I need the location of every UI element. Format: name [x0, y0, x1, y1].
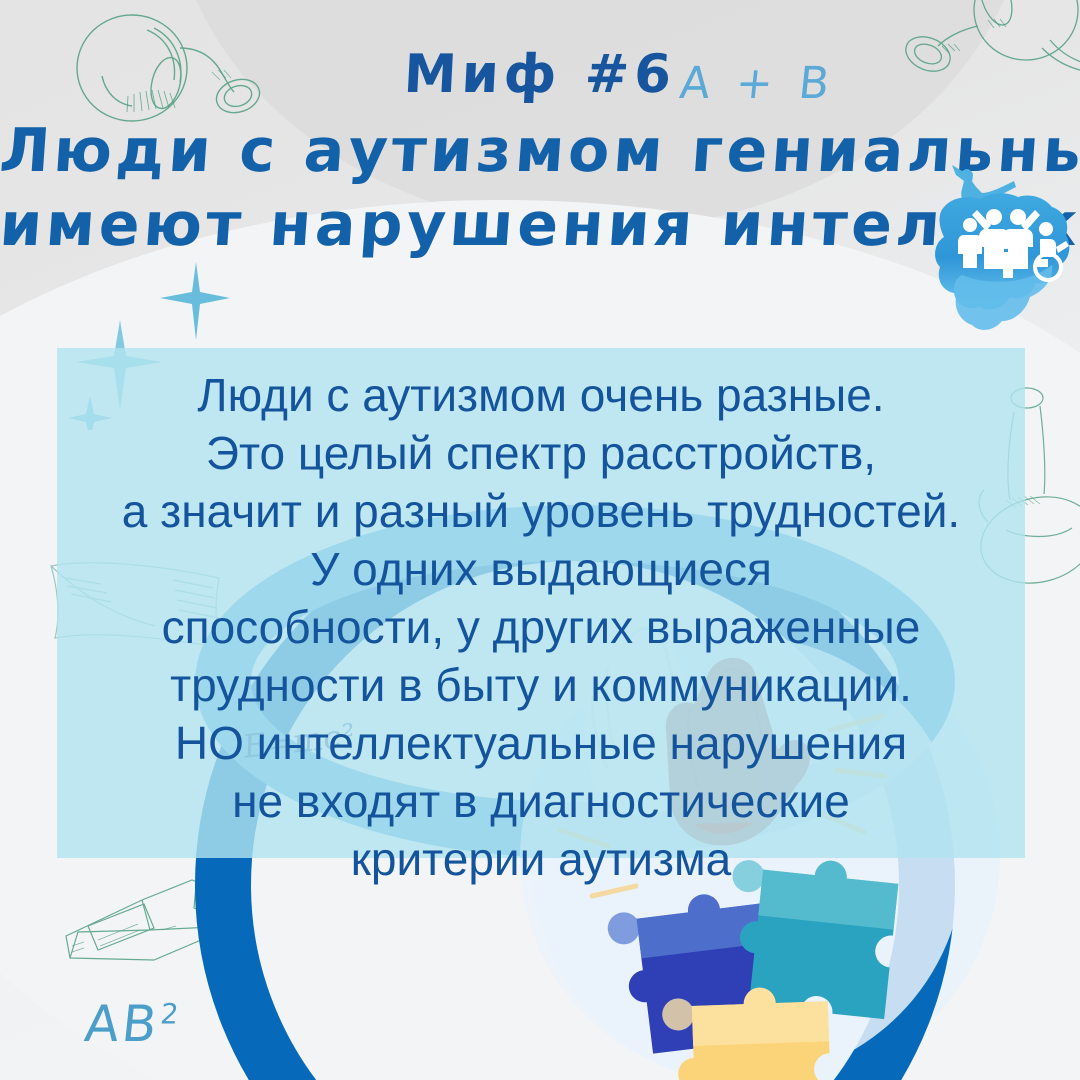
volgograd-region-logo — [932, 163, 1080, 338]
ab-formula-doodle: A + B — [677, 58, 837, 109]
body-line-7: НО интеллектуальные нарушения — [57, 714, 1025, 772]
ab-squared-formula-doodle: AB2 — [82, 995, 183, 1053]
body-line-1: Люди с аутизмом очень разные. — [57, 366, 1025, 424]
body-text: Люди с аутизмом очень разные. Это целый … — [57, 366, 1025, 888]
poster-canvas: E=mc² Миф #6 Люди с аутизмом гениальны/ … — [0, 0, 1080, 1080]
body-line-3: а значит и разный уровень трудностей. — [57, 482, 1025, 540]
body-line-4: У одних выдающиеся — [57, 540, 1025, 598]
myth-number: Миф #6 — [0, 44, 1080, 105]
ab-squared-exponent: 2 — [159, 997, 183, 1030]
body-line-6: трудности в быту и коммуникации. — [57, 656, 1025, 714]
body-line-8: не входят в диагностические — [57, 772, 1025, 830]
ab-squared-base: AB — [82, 995, 163, 1053]
heading-block: Миф #6 Люди с аутизмом гениальны/ имеют … — [0, 0, 1080, 350]
body-line-9: критерии аутизма — [57, 830, 1025, 888]
body-line-2: Это целый спектр расстройств, — [57, 424, 1025, 482]
body-line-5: способности, у других выраженные — [57, 598, 1025, 656]
title-line-1: Люди с аутизмом гениальны/ — [0, 116, 1080, 186]
title-line-2: имеют нарушения интеллекта — [0, 190, 1080, 260]
